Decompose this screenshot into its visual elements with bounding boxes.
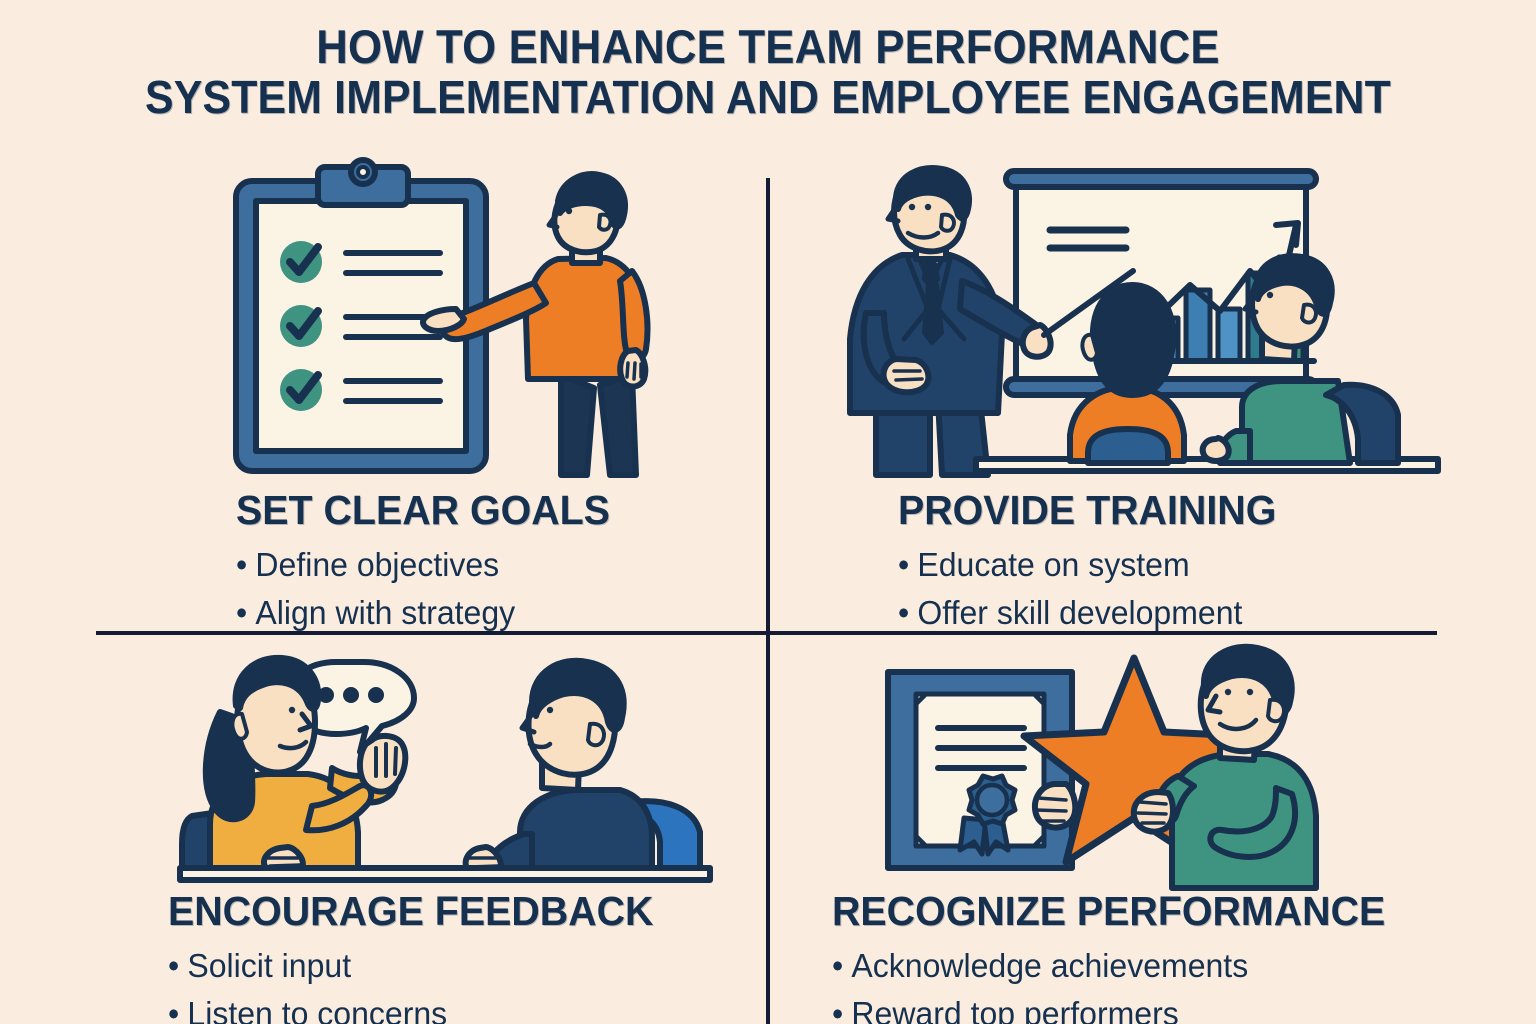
person-eye-1-green: [1225, 689, 1231, 695]
quadrant-bullet: •Define objectives: [236, 541, 614, 589]
person-arm-right: [620, 271, 647, 359]
clipboard-checklist-illustration: [228, 163, 698, 483]
quadrant-heading-set-clear-goals: SET CLEAR GOALS: [236, 487, 610, 534]
quadrant-heading-provide-training: PROVIDE TRAINING: [898, 487, 1276, 534]
illustration-set-clear-goals: [228, 163, 698, 483]
quadrant-bullet: •Align with strategy: [236, 589, 614, 637]
speaker-ear: [232, 714, 247, 739]
illustration-encourage-feedback: [180, 648, 710, 888]
feedback-scene-illustration: [180, 648, 710, 888]
page-title: HOW TO ENHANCE TEAM PERFORMANCE SYSTEM I…: [0, 22, 1536, 122]
infographic-poster: HOW TO ENHANCE TEAM PERFORMANCE SYSTEM I…: [0, 0, 1536, 1024]
seal-inner: [977, 785, 1007, 815]
quadrant-bullet: •Solicit input: [168, 942, 659, 990]
page-title-line-1: HOW TO ENHANCE TEAM PERFORMANCE: [54, 22, 1482, 73]
bullet-text: Reward top performers: [851, 995, 1178, 1024]
bullet-text: Acknowledge achievements: [851, 947, 1248, 984]
chart-bar-3: [1218, 309, 1240, 361]
person-eye: [566, 208, 572, 214]
attendee-green-hand: [1203, 438, 1229, 461]
person-leg-right: [600, 375, 636, 475]
training-scene-illustration: [838, 163, 1448, 483]
attendee-green-ear: [1302, 305, 1316, 323]
quadrant-heading-recognize-performance: RECOGNIZE PERFORMANCE: [832, 888, 1385, 935]
feedback-table: [180, 868, 710, 880]
person-hand-pointing: [423, 309, 464, 331]
illustration-recognize-performance: [872, 650, 1372, 888]
listener-eye: [547, 707, 553, 713]
listener-sweater: [520, 790, 652, 874]
person-eye-2-green: [1247, 689, 1253, 695]
presenter-tie-knot: [924, 259, 938, 287]
quadrant-bullet: •Listen to concerns: [168, 990, 659, 1024]
quadrant-heading-encourage-feedback: ENCOURAGE FEEDBACK: [168, 888, 653, 935]
quadrant-bullet: •Reward top performers: [832, 990, 1391, 1024]
whiteboard-top-rail: [1006, 171, 1316, 187]
presenter-eye-2: [925, 204, 931, 210]
bullet-text: Align with strategy: [255, 594, 515, 631]
page-title-line-2: SYSTEM IMPLEMENTATION AND EMPLOYEE ENGAG…: [54, 73, 1482, 123]
person-ear-green: [1268, 700, 1284, 722]
attendee-orange-ear: [1082, 335, 1097, 360]
attendee-green-eye: [1267, 292, 1273, 298]
bubble-dot-3: [368, 687, 384, 703]
feedback-listener: [466, 661, 700, 876]
presenter-hand-resting: [884, 359, 929, 392]
speaker-eye: [289, 707, 295, 713]
quadrant-recognize-performance-text: RECOGNIZE PERFORMANCE •Acknowledge achie…: [832, 888, 1408, 1024]
recognition-scene-illustration: [872, 650, 1372, 888]
attendee-orange-hair: [1093, 285, 1173, 395]
quadrant-bullet: •Acknowledge achievements: [832, 942, 1391, 990]
bullet-text: Offer skill development: [917, 594, 1242, 631]
bubble-dot-2: [343, 687, 359, 703]
vertical-divider: [766, 178, 770, 1024]
person-leg-left: [561, 375, 594, 475]
presenter-ear: [941, 215, 954, 231]
speaker-hand-raised: [360, 736, 405, 792]
quadrant-provide-training-text: PROVIDE TRAINING •Educate on system •Off…: [898, 487, 1292, 637]
person-ear: [599, 215, 611, 230]
quadrant-bullet: •Educate on system: [898, 541, 1280, 589]
quadrant-bullet: •Offer skill development: [898, 589, 1280, 637]
clipboard-clip-hole: [358, 167, 368, 177]
listener-ear: [588, 724, 604, 746]
bullet-text: Listen to concerns: [187, 995, 447, 1024]
presenter-eye-1: [909, 204, 915, 210]
bullet-text: Educate on system: [917, 546, 1189, 583]
quadrant-set-clear-goals-text: SET CLEAR GOALS •Define objectives •Alig…: [236, 487, 626, 637]
certificate: [888, 672, 1072, 868]
illustration-provide-training: [838, 163, 1448, 483]
quadrant-encourage-feedback-text: ENCOURAGE FEEDBACK •Solicit input •Liste…: [168, 888, 674, 1024]
attendee-orange-chair: [1088, 429, 1168, 463]
bullet-text: Solicit input: [187, 947, 351, 984]
bullet-text: Define objectives: [255, 546, 499, 583]
